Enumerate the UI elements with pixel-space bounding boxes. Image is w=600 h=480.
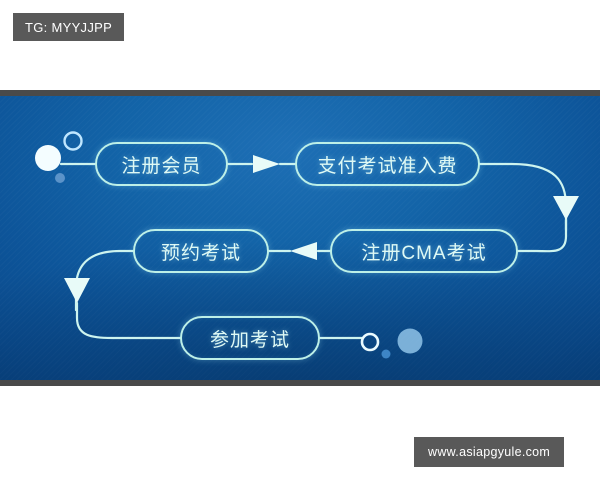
flow-node-register-cma-exam[interactable]: 注册CMA考试 [330, 229, 518, 273]
telegram-watermark-badge: TG: MYYJJPP [13, 13, 124, 41]
decor-ring-left [65, 133, 82, 150]
flow-node-take-exam[interactable]: 参加考试 [180, 316, 320, 360]
flow-node-register-member[interactable]: 注册会员 [95, 142, 228, 186]
arrow-head-down-1 [553, 196, 579, 220]
decor-ring-right [362, 334, 378, 350]
connector-2-curve-lower [518, 220, 566, 251]
connector-2-curve-upper [480, 164, 566, 230]
decor-dot-right [382, 350, 391, 359]
flow-diagram-panel: 注册会员 支付考试准入费 注册CMA考试 预约考试 参加考试 [0, 90, 600, 386]
screenshot-root: 注册会员 支付考试准入费 注册CMA考试 预约考试 参加考试 TG: MYYJJ… [0, 0, 600, 480]
connector-4-curve-lower [77, 303, 180, 338]
flow-node-pay-entry-fee[interactable]: 支付考试准入费 [295, 142, 480, 186]
website-watermark-badge: www.asiapgyule.com [414, 437, 564, 467]
decor-circle-large-left [35, 145, 61, 171]
arrow-head-left-1 [290, 242, 317, 260]
decor-circle-large-right [398, 329, 423, 354]
decor-dot-left [55, 173, 65, 183]
flow-node-schedule-exam[interactable]: 预约考试 [133, 229, 269, 273]
arrow-head-right-1 [253, 155, 280, 173]
arrow-head-down-2 [64, 278, 90, 303]
